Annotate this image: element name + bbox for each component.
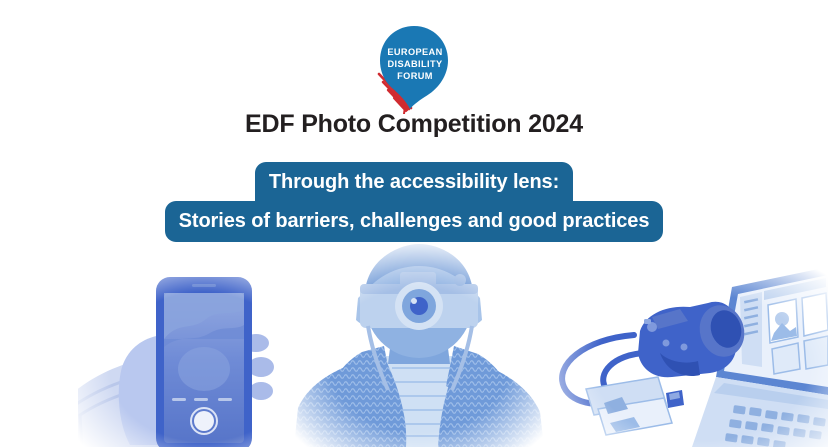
logo-line-european: EUROPEAN [387,47,442,57]
subtitle-row-1: Through the accessibility lens: [0,162,828,203]
logo-line-disability: DISABILITY [387,59,442,69]
subtitle-line-1: Through the accessibility lens: [255,162,573,203]
subtitle-line-2: Stories of barriers, challenges and good… [165,201,664,242]
photo-person-with-camera [288,240,550,447]
shutter-button-glyph [194,411,214,431]
page-title: EDF Photo Competition 2024 [0,110,828,139]
photo-strip [0,240,828,447]
subtitle-block: Through the accessibility lens: Stories … [0,162,828,242]
subtitle-row-2: Stories of barriers, challenges and good… [0,203,828,242]
sd-card-shape [666,390,684,408]
poster-canvas: EUROPEAN DISABILITY FORUM EDF Photo Comp… [0,0,828,447]
european-disability-forum-logo: EUROPEAN DISABILITY FORUM [359,22,469,114]
printed-photos-group [586,377,672,435]
logo-line-forum: FORUM [397,71,433,81]
photo-camera-and-laptop [548,257,828,447]
